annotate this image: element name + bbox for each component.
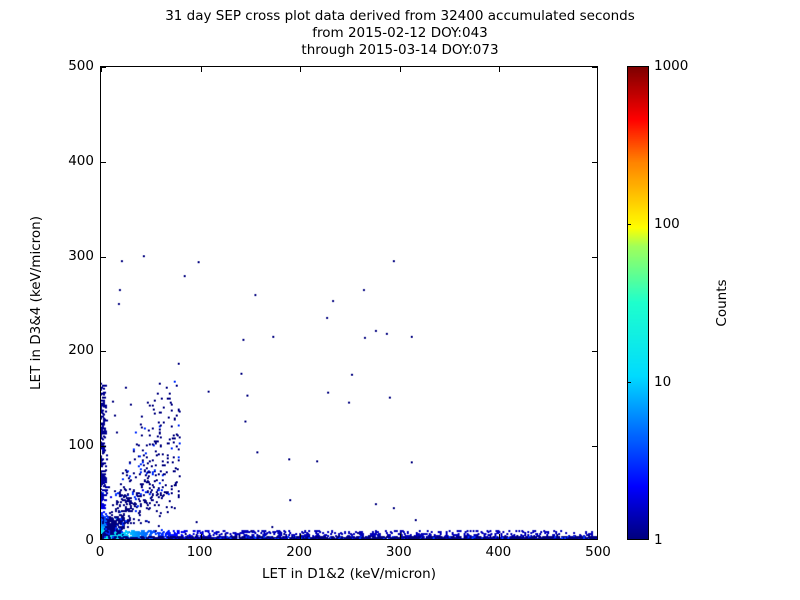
x-axis-tick [400,534,401,539]
x-axis-tick [101,534,102,539]
y-tick-label: 500 [68,58,94,74]
colorbar-tick [627,224,631,225]
y-tick-label: 0 [85,532,94,548]
y-axis-tick-right [592,162,597,163]
y-axis-tick-right [592,67,597,68]
y-axis-label: LET in D3&4 (keV/micron) [28,66,44,540]
x-axis-tick-top [201,67,202,72]
colorbar-tick-label: 100 [654,216,680,232]
colorbar-tick-label: 10 [654,374,671,390]
y-tick-label: 300 [68,248,94,264]
x-tick-label: 400 [486,544,512,560]
y-axis-tick-right [592,257,597,258]
y-tick-label: 400 [68,153,94,169]
y-axis-tick-right [592,446,597,447]
y-axis-tick [101,162,106,163]
colorbar-label: Counts [714,66,730,540]
scatter-plot-canvas [101,67,597,539]
plot-area[interactable] [100,66,598,540]
x-axis-tick-top [499,67,500,72]
y-axis-tick [101,67,106,68]
title-line-2: from 2015-02-12 DOY:043 [0,25,800,42]
colorbar-tick-label: 1 [654,532,663,548]
x-tick-label: 200 [286,544,312,560]
x-tick-label: 100 [187,544,213,560]
x-tick-label: 500 [585,544,611,560]
y-axis-tick [101,351,106,352]
title-line-3: through 2015-03-14 DOY:073 [0,42,800,59]
x-axis-tick [201,534,202,539]
x-axis-tick [300,534,301,539]
x-tick-label: 0 [96,544,105,560]
x-axis-tick [499,534,500,539]
y-axis-tick [101,257,106,258]
x-axis-label: LET in D1&2 (keV/micron) [100,566,598,582]
colorbar-tick-label: 1000 [654,58,688,74]
figure-canvas: 31 day SEP cross plot data derived from … [0,0,800,600]
y-axis-tick [101,446,106,447]
colorbar[interactable] [627,66,649,540]
x-axis-tick-top [400,67,401,72]
y-axis-tick-right [592,351,597,352]
x-axis-tick-top [300,67,301,72]
x-tick-label: 300 [386,544,412,560]
y-tick-label: 100 [68,437,94,453]
title-line-1: 31 day SEP cross plot data derived from … [0,8,800,25]
y-tick-label: 200 [68,342,94,358]
colorbar-tick [627,382,631,383]
colorbar-gradient [628,67,648,539]
chart-title: 31 day SEP cross plot data derived from … [0,8,800,59]
